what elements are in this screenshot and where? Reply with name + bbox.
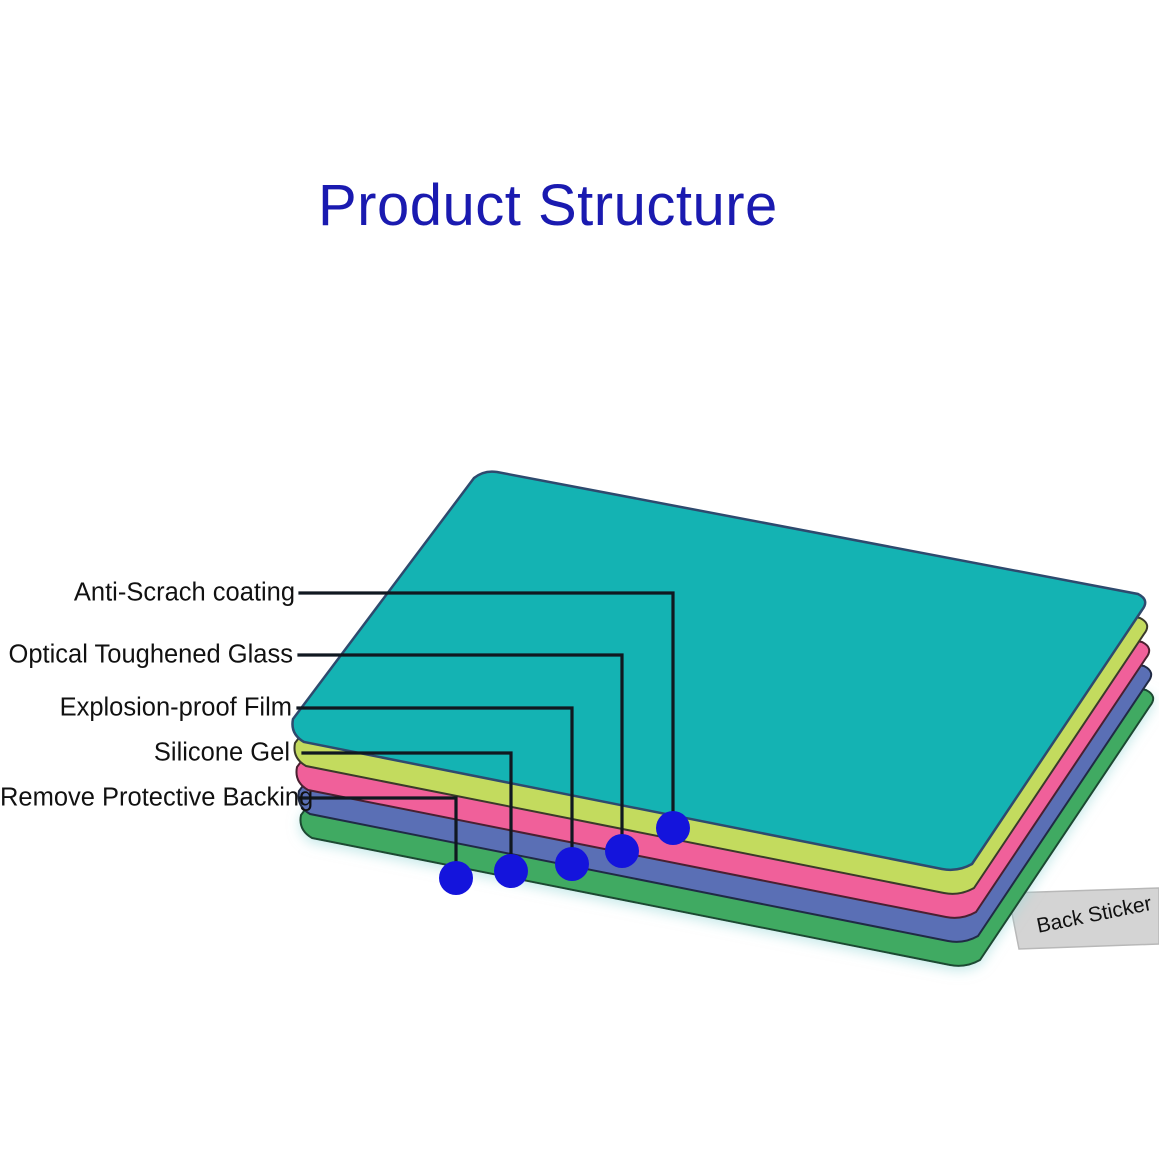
product-structure-diagram: Product Structure — [0, 0, 1159, 1159]
callout-label-1: Anti-Scrach coating — [0, 579, 295, 608]
callout-label-4: Silicone Gel — [0, 739, 290, 768]
callout-dot-5 — [439, 861, 473, 895]
callout-dot-2 — [605, 834, 639, 868]
callout-label-5: Remove Protective Backing — [0, 784, 294, 813]
callout-dot-3 — [555, 847, 589, 881]
callout-dot-1 — [656, 811, 690, 845]
callout-label-2: Optical Toughened Glass — [0, 641, 293, 670]
callout-dot-4 — [494, 854, 528, 888]
callout-label-3: Explosion-proof Film — [0, 694, 292, 723]
